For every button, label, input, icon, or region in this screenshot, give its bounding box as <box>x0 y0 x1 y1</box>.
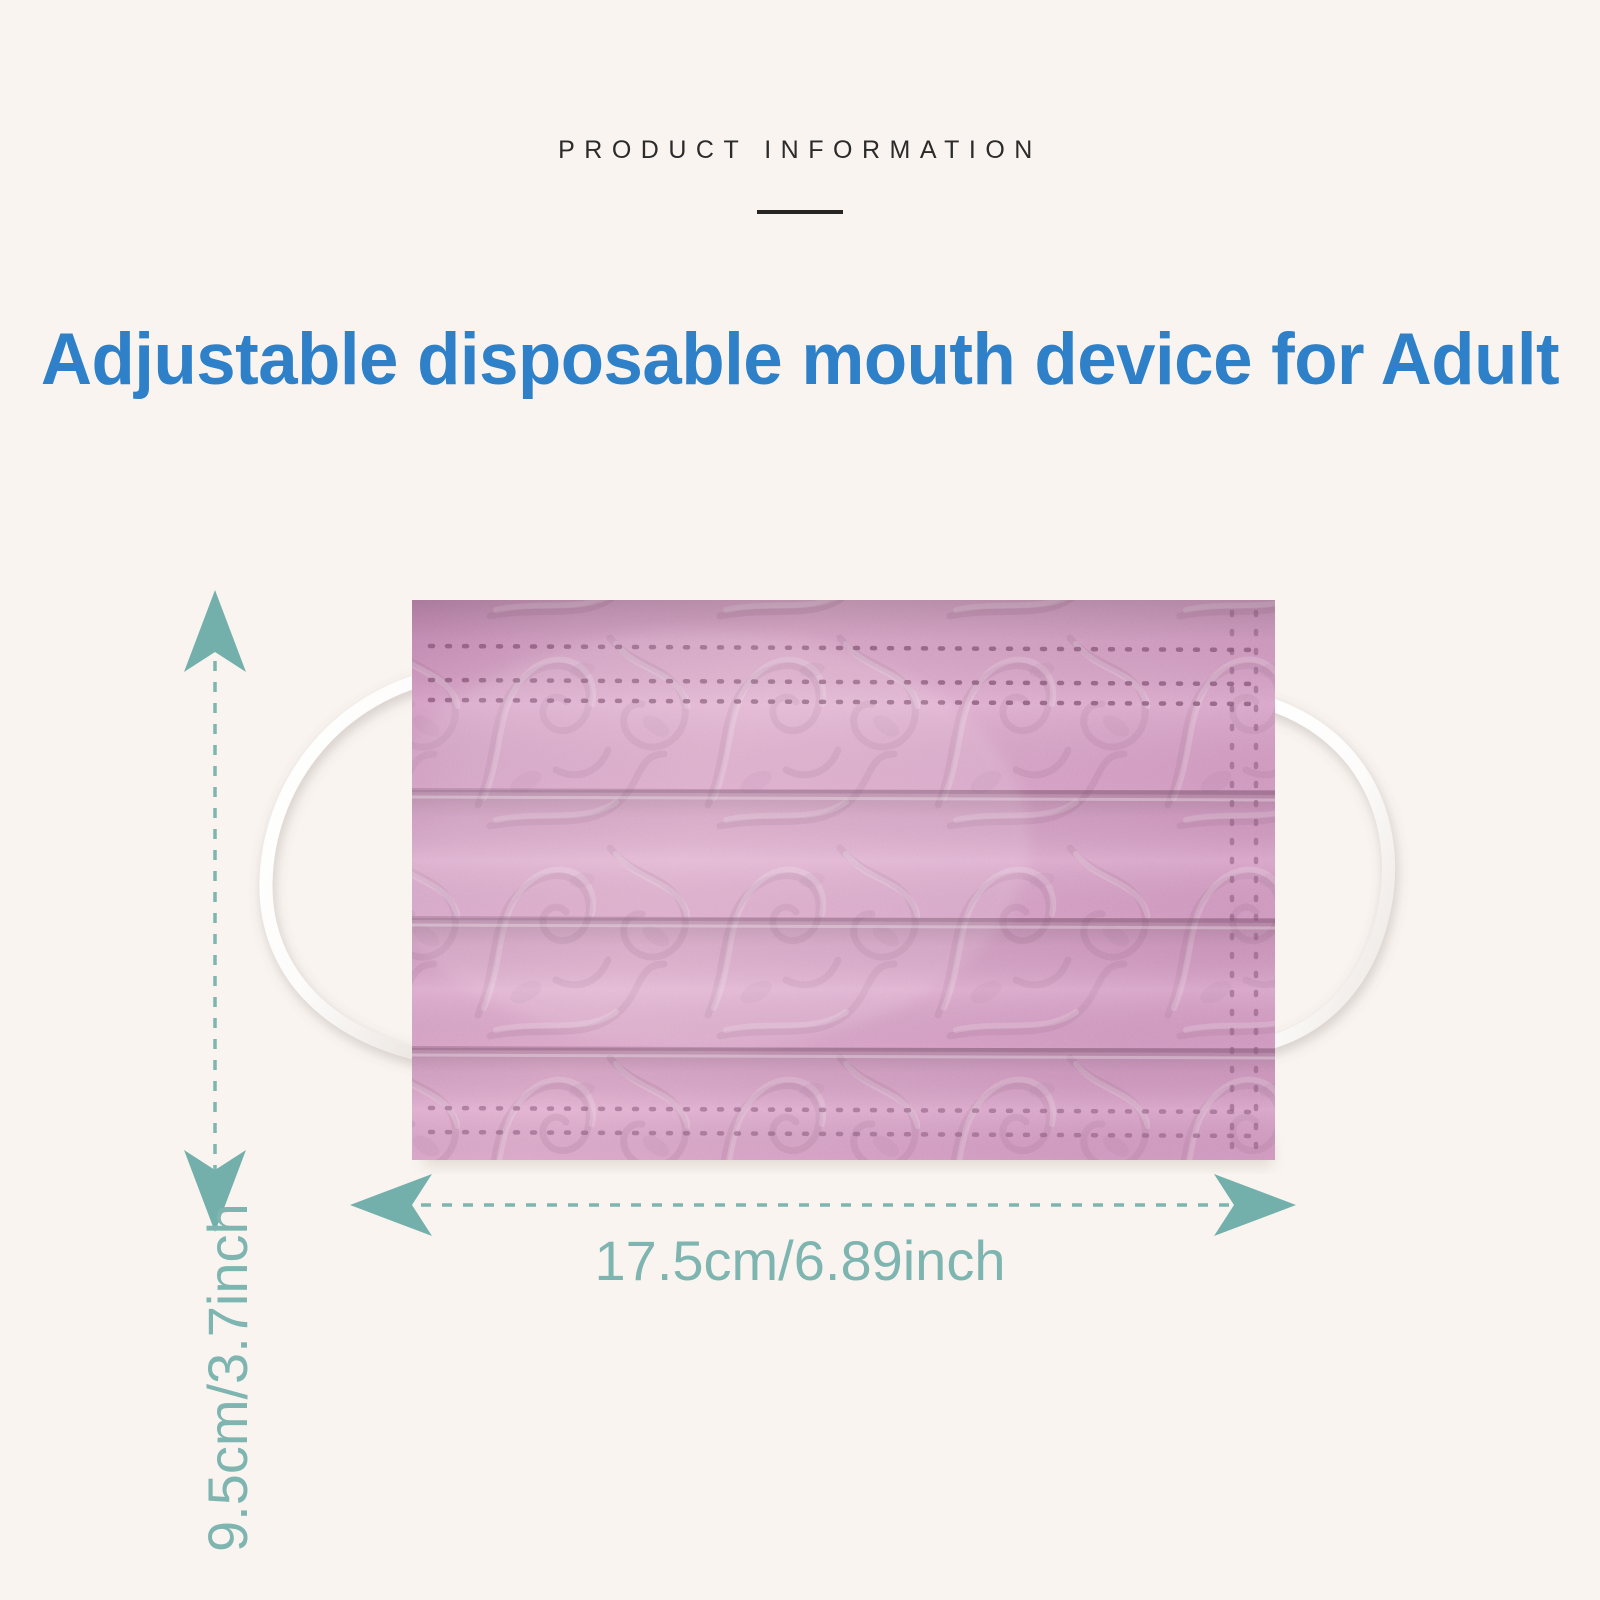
width-dimension-label: 17.5cm/6.89inch <box>595 1228 1006 1293</box>
height-arrow-up-icon <box>184 590 246 672</box>
height-dimension-label: 9.5cm/3.7inch <box>195 1203 260 1552</box>
product-information-panel: PRODUCT INFORMATION Adjustable disposabl… <box>0 0 1600 1600</box>
width-arrow-left-icon <box>350 1174 432 1236</box>
